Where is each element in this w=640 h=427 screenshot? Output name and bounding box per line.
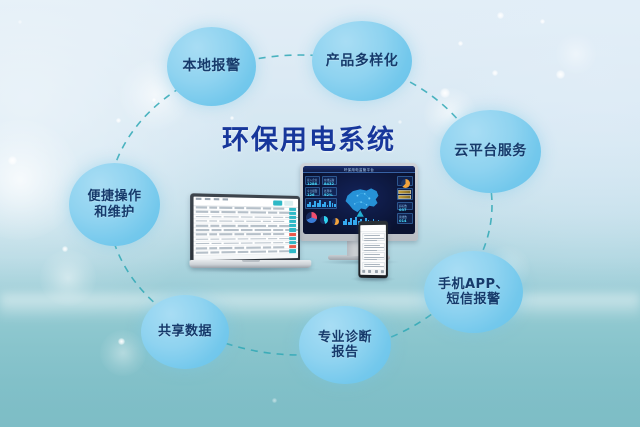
report-table-cell <box>209 234 217 236</box>
smartphone <box>358 221 388 279</box>
phone-alarm-item[interactable] <box>362 242 385 250</box>
report-table-cell <box>237 251 248 253</box>
report-table-cell <box>234 234 244 236</box>
dashboard-thumbnail-panel <box>397 188 413 200</box>
toolbar-secondary-button[interactable] <box>284 200 293 205</box>
report-status-badge <box>289 228 296 231</box>
feature-bubble-label: 便捷操作和维护 <box>87 189 141 220</box>
report-table-cell <box>234 207 244 209</box>
poster-canvas: 本地报警产品多样化云平台服务手机APP、短信报警专业诊断报告共享数据便捷操作和维… <box>0 0 640 427</box>
report-table-cell <box>273 208 284 210</box>
phone-alarm-text-line <box>364 250 377 251</box>
report-table-cell <box>223 229 238 231</box>
dashboard-kpi-panel: 处理率 92% <box>322 187 337 196</box>
report-status-badge <box>289 249 296 252</box>
report-table-cell <box>246 221 261 223</box>
report-table-cell <box>246 207 261 209</box>
laptop <box>190 193 300 265</box>
feature-bubble-line: 手机APP、 <box>438 277 509 292</box>
report-table-cell <box>273 246 284 248</box>
feature-bubble-line: 共享数据 <box>158 324 212 339</box>
feature-bubble-cloud-platform[interactable]: 云平台服务 <box>440 110 541 193</box>
feature-bubble-line: 便捷操作 <box>87 189 141 204</box>
report-table-cell <box>219 207 232 209</box>
report-table-cell <box>209 207 217 209</box>
feature-bubble-label: 产品多样化 <box>326 53 399 70</box>
phone-alarm-text-line <box>364 254 380 255</box>
report-table-cell <box>195 238 207 240</box>
report-table-cell <box>219 234 232 236</box>
feature-bubble-label: 共享数据 <box>158 324 212 339</box>
dashboard-trend-panel <box>305 198 337 209</box>
report-table-cell <box>195 247 206 249</box>
report-table-cell <box>273 242 283 244</box>
phone-alarm-text-line <box>364 259 377 260</box>
dashboard-bar-chart <box>307 199 336 207</box>
dashboard-kpi-panel: 接入企业 1286 <box>305 176 320 185</box>
dashboard-donut-chart <box>320 216 328 224</box>
report-table-cell <box>262 208 270 210</box>
feature-bubble-label: 手机APP、短信报警 <box>438 277 509 308</box>
report-table-cell <box>273 216 283 218</box>
dashboard-thumbnail <box>398 195 411 199</box>
report-table-rows <box>193 206 298 256</box>
report-table-cell <box>221 238 235 240</box>
report-table-cell <box>211 243 221 245</box>
dashboard-thumbnail <box>398 190 411 194</box>
report-table-cell <box>234 220 244 222</box>
report-status-badge <box>289 212 296 215</box>
dashboard-kpi-panel: 今日报警 126 <box>305 187 320 196</box>
phone-alarm-text-line <box>364 266 384 268</box>
report-table-cell <box>210 251 219 253</box>
feature-bubble-product-diversity[interactable]: 产品多样化 <box>312 21 412 101</box>
report-table-cell <box>209 220 217 222</box>
phone-tab-icon[interactable] <box>375 270 378 273</box>
report-table-cell <box>250 212 266 214</box>
report-table-cell <box>211 229 221 231</box>
phone-screen <box>360 224 386 274</box>
report-table-cell <box>221 225 235 227</box>
report-table-cell <box>237 225 248 227</box>
report-table-cell <box>268 212 277 214</box>
dashboard-gauge-panel <box>397 176 413 186</box>
report-table-cell <box>195 225 207 227</box>
phone-alarm-text-line <box>364 245 380 246</box>
laptop-notch <box>242 260 260 262</box>
report-table-cell <box>195 229 209 231</box>
report-table-cell <box>210 211 219 213</box>
feature-bubble-easy-operation[interactable]: 便捷操作和维护 <box>69 163 160 246</box>
phone-alarm-text-line <box>364 247 384 248</box>
phone-alarm-item[interactable] <box>362 233 385 241</box>
report-status-badge <box>289 241 296 244</box>
report-table-cell <box>240 242 252 244</box>
feature-bubble-line: 产品多样化 <box>326 53 399 70</box>
report-table-cell <box>223 216 238 218</box>
phone-alarm-text-line <box>364 264 380 265</box>
feature-bubble-diagnostic-report[interactable]: 专业诊断报告 <box>299 306 391 384</box>
report-table-cell <box>209 247 217 249</box>
page-title: 环保用电系统 <box>222 118 396 157</box>
report-table-cell <box>250 225 266 227</box>
report-status-badge <box>289 224 296 227</box>
phone-alarm-item[interactable] <box>362 252 385 260</box>
report-table-cell <box>219 247 232 249</box>
laptop-screen <box>193 196 298 260</box>
dashboard-title: 环保用电监管平台 <box>303 167 415 172</box>
report-table-cell <box>250 238 266 240</box>
phone-tab-bar <box>360 268 386 274</box>
toolbar-menu-icons <box>195 198 227 201</box>
feature-bubble-label: 本地报警 <box>183 58 241 75</box>
report-table-cell <box>268 238 277 240</box>
report-table-cell <box>268 251 277 253</box>
toolbar-primary-button[interactable] <box>273 200 282 205</box>
phone-alarm-text-line <box>364 257 384 258</box>
report-table-cell <box>195 216 209 218</box>
report-table-cell <box>237 212 248 214</box>
report-table-cell <box>221 211 235 213</box>
report-table-cell <box>246 234 261 236</box>
phone-tab-icon[interactable] <box>368 270 371 273</box>
device-group: 环保用电监管平台 接入企业 1286 在线设备 8432 今日报警 126 <box>190 163 430 313</box>
feature-bubble-line: 专业诊断 <box>318 330 372 345</box>
feature-bubble-local-alarm[interactable]: 本地报警 <box>167 27 256 106</box>
phone-alarm-text-line <box>364 235 380 236</box>
report-table-cell <box>240 216 252 218</box>
dashboard-kpi-panel: 离线数 014 <box>397 213 413 224</box>
report-table-cell <box>210 225 219 227</box>
report-table-cell <box>250 251 266 253</box>
report-table-cell <box>246 247 261 249</box>
report-table-cell <box>195 211 207 213</box>
report-table-cell <box>273 229 283 231</box>
phone-alarm-text-line <box>364 240 377 241</box>
report-table-cell <box>210 238 219 240</box>
phone-tab-icon[interactable] <box>381 270 384 273</box>
report-status-badge <box>289 233 296 236</box>
report-table-cell <box>254 216 271 218</box>
report-table-cell <box>223 242 238 244</box>
dashboard-donut-chart <box>401 179 410 188</box>
feature-bubble-label: 专业诊断报告 <box>318 330 372 361</box>
report-table-cell <box>237 238 248 240</box>
report-table-cell <box>211 216 221 218</box>
dashboard-kpi-panel: 超标数 037 <box>397 202 413 210</box>
feature-bubble-line: 云平台服务 <box>454 143 527 160</box>
report-status-badge <box>289 237 296 240</box>
report-table-cell <box>254 229 271 231</box>
report-table-cell <box>221 251 235 253</box>
report-table-cell <box>234 247 244 249</box>
report-status-badge <box>289 245 296 248</box>
report-table-cell <box>262 221 270 223</box>
report-table-cell <box>268 225 277 227</box>
report-table-cell <box>195 243 209 245</box>
feature-bubble-line: 本地报警 <box>183 58 241 75</box>
report-table-cell <box>254 242 271 244</box>
report-table-cell <box>240 229 252 231</box>
report-table-cell <box>262 246 270 248</box>
phone-alarm-text-line <box>364 238 384 239</box>
report-table-cell <box>195 252 207 254</box>
report-table-cell <box>219 220 232 222</box>
report-table-cell <box>262 234 270 236</box>
feature-bubble-line: 短信报警 <box>438 292 509 307</box>
report-status-badge <box>289 216 296 219</box>
report-table-cell <box>195 220 206 222</box>
report-status-badge <box>289 220 296 223</box>
phone-app-header <box>360 224 386 231</box>
report-table-cell <box>195 207 206 209</box>
phone-tab-icon[interactable] <box>362 270 365 273</box>
feature-bubble-line: 报告 <box>318 345 372 360</box>
feature-bubble-line: 和维护 <box>87 205 141 220</box>
report-table-cell <box>195 234 206 236</box>
dashboard-donut-chart <box>332 218 339 225</box>
feature-bubble-label: 云平台服务 <box>454 143 527 160</box>
feature-bubble-mobile-app-sms[interactable]: 手机APP、短信报警 <box>424 251 523 333</box>
report-table-cell <box>273 233 284 235</box>
report-table-cell <box>273 221 284 223</box>
dashboard-donut-chart <box>306 212 317 223</box>
report-status-badge <box>289 207 296 210</box>
dashboard-kpi-panel: 在线设备 8432 <box>322 176 337 185</box>
